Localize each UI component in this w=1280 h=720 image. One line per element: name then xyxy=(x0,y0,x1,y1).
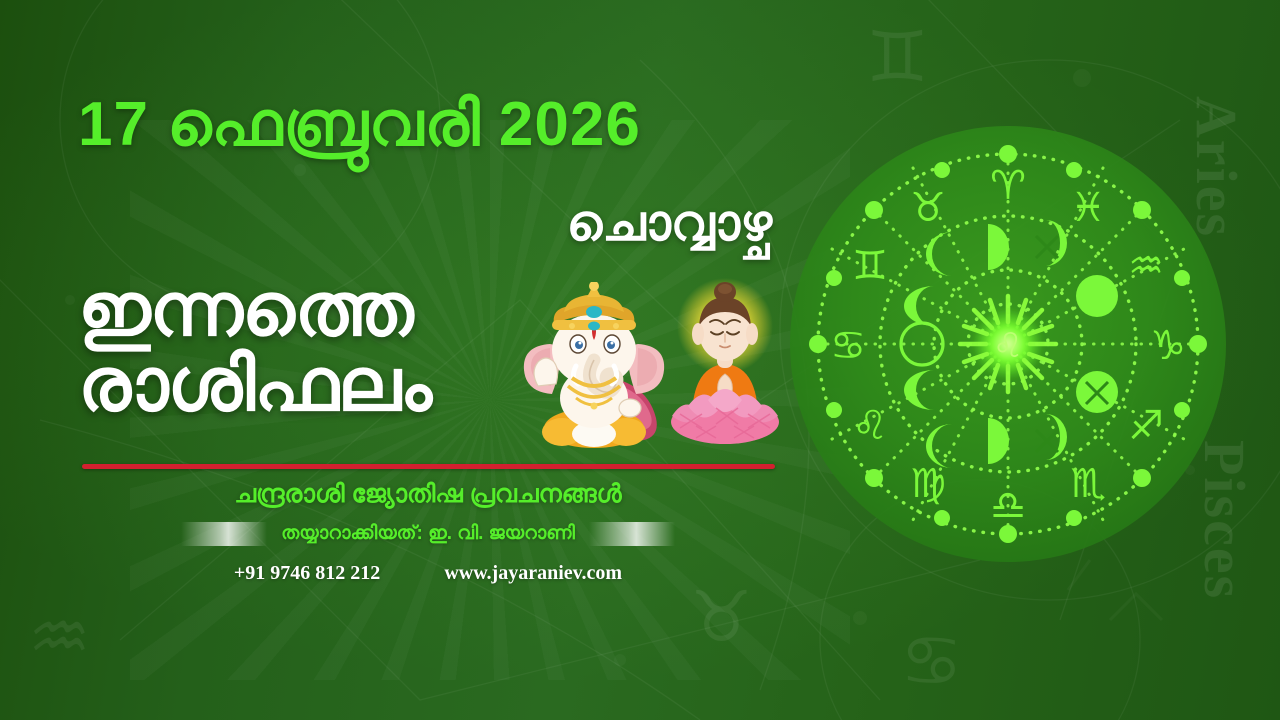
page-title: ഇന്നത്തെ രാശിഫലം xyxy=(78,272,548,423)
phone-number[interactable]: +91 9746 812 212 xyxy=(234,562,380,585)
wheel-center-sun: ♌ xyxy=(960,296,1056,392)
zodiac-glyph-gemini: ♊ xyxy=(852,243,888,289)
title-divider xyxy=(82,464,775,469)
divider-bar-left xyxy=(181,522,267,546)
taurus-watermark-icon: ♉ xyxy=(690,576,753,658)
ganesha-icon xyxy=(520,282,668,454)
divider-bar-right xyxy=(589,522,675,546)
deity-illustrations xyxy=(520,276,782,454)
zodiac-glyph-sagittarius: ♐ xyxy=(1128,403,1164,449)
zodiac-glyph-libra: ♎ xyxy=(990,483,1026,529)
horoscope-poster: ♒ ♉ ♊ ♋ Aries Pisces xyxy=(0,0,1280,720)
subtitle: ചന്ദ്രരാശി ജ്യോതിഷ പ്രവചനങ്ങൾ xyxy=(78,480,778,509)
zodiac-glyph-scorpio: ♏ xyxy=(1070,461,1106,507)
zodiac-glyph-virgo: ♍ xyxy=(910,461,946,507)
prepared-by-row: തയ്യാറാക്കിയത്: ഇ. വി. ജയറാണി xyxy=(78,522,778,546)
page-title-line2: രാശിഫലം xyxy=(78,347,548,422)
prepared-by-text: തയ്യാറാക്കിയത്: ഇ. വി. ജയറാണി xyxy=(281,523,575,545)
date-heading: 17 ഫെബ്രുവരി 2026 xyxy=(78,92,778,157)
website-url[interactable]: www.jayaraniev.com xyxy=(444,562,622,585)
zodiac-glyph-taurus: ♉ xyxy=(910,185,946,231)
contact-row: +91 9746 812 212 www.jayaraniev.com xyxy=(78,562,778,585)
page-title-line1: ഇന്നത്തെ xyxy=(78,268,413,351)
gemini-watermark-icon: ♊ xyxy=(866,16,929,98)
zodiac-glyph-aquarius: ♒ xyxy=(1128,243,1164,289)
lotus-petals xyxy=(671,389,779,444)
zodiac-glyph-capricorn: ♑ xyxy=(1150,323,1186,369)
aquarius-watermark-icon: ♒ xyxy=(28,596,91,678)
moon-full-1 xyxy=(1076,275,1118,317)
zodiac-wheel: ♈ ♓ ♒ ♑ ♐ ♏ ♎ ♍ ♌ ♋ ♊ ♉ xyxy=(784,120,1232,568)
center-zodiac-glyph: ♌ xyxy=(993,326,1023,366)
zodiac-glyph-aries: ♈ xyxy=(990,163,1026,209)
weekday-heading: ചൊവ്വാഴ്ച xyxy=(78,196,772,251)
zodiac-glyph-cancer: ♋ xyxy=(830,323,866,369)
cancer-watermark-icon: ♋ xyxy=(900,620,963,702)
zodiac-glyph-pisces: ♓ xyxy=(1070,185,1106,231)
buddha-icon xyxy=(668,276,782,446)
zodiac-glyph-leo: ♌ xyxy=(852,403,888,449)
